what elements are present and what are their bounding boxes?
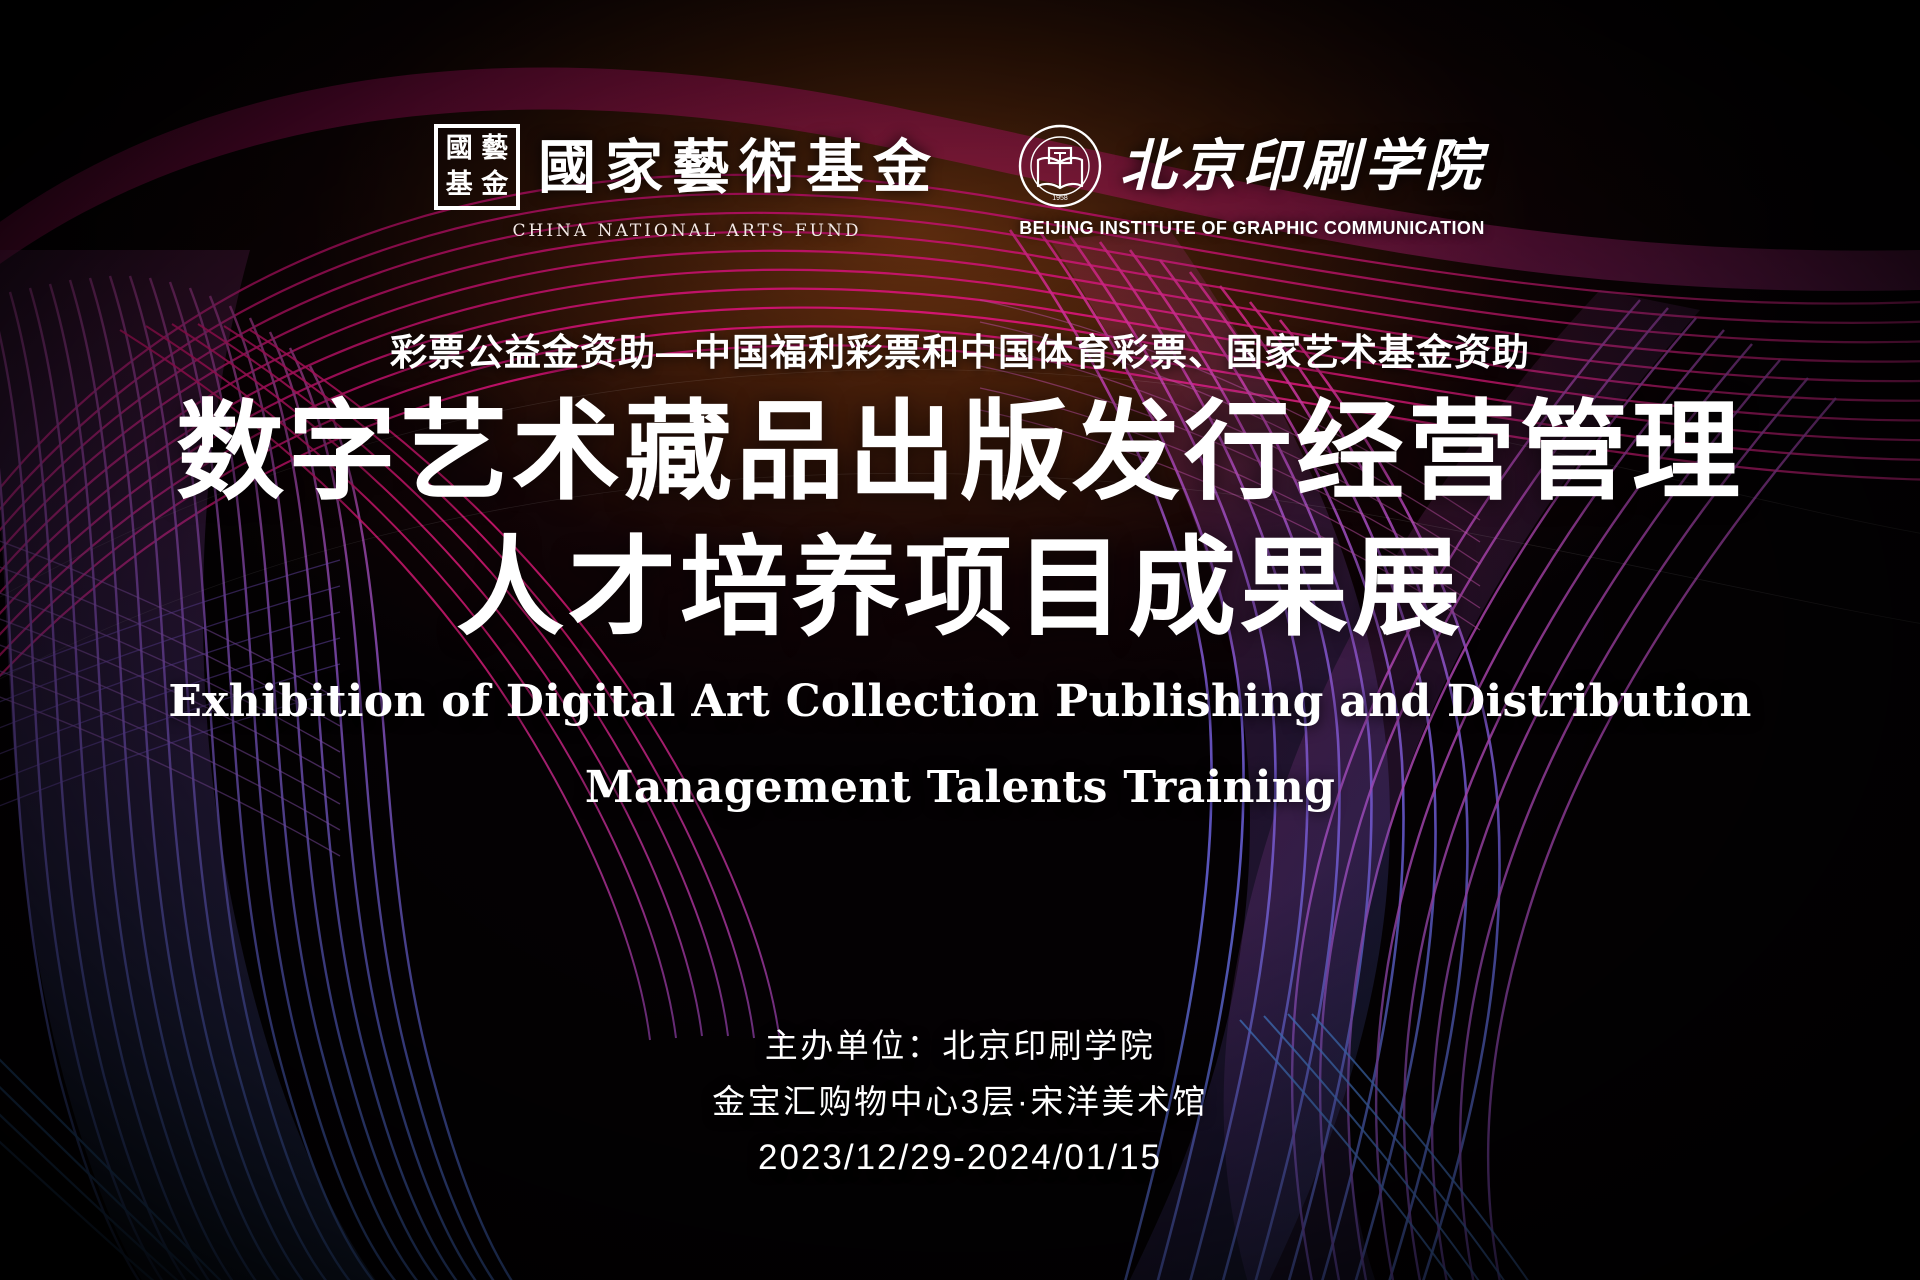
footer-block: 主办单位：北京印刷学院 金宝汇购物中心3层·宋洋美术馆 2023/12/29-2…: [0, 1018, 1920, 1186]
exhibition-poster: 國 藝 基 金 國家藝術基金 CHINA NATIONAL ARTS FUND: [0, 0, 1920, 1280]
logo-china-national-arts-fund: 國 藝 基 金 國家藝術基金 CHINA NATIONAL ARTS FUND: [434, 124, 940, 241]
bigc-cn-name: 北京印刷学院: [1120, 137, 1486, 195]
crest-year: 1958: [1052, 195, 1068, 202]
organizer-text: 主办单位：北京印刷学院: [0, 1018, 1920, 1074]
seal-char-3: 基: [443, 169, 476, 202]
logo-beijing-institute-of-graphic-communication: 1958 北京印刷学院 BEIJING INSTITUTE OF GRAPHIC…: [1018, 124, 1486, 239]
dates-text: 2023/12/29-2024/01/15: [0, 1130, 1920, 1186]
seal-char-1: 國: [443, 133, 476, 166]
seal-char-4: 金: [478, 169, 511, 202]
arts-fund-cn-name: 國家藝術基金: [538, 137, 940, 197]
funding-subtitle: 彩票公益金资助—中国福利彩票和中国体育彩票、国家艺术基金资助: [0, 322, 1920, 376]
seal-char-2: 藝: [478, 133, 511, 166]
bigc-crest-icon: 1958: [1018, 124, 1102, 208]
title-cn-line-2: 人才培养项目成果展: [0, 528, 1920, 648]
logo-row: 國 藝 基 金 國家藝術基金 CHINA NATIONAL ARTS FUND: [0, 124, 1920, 241]
title-cn-line-1: 数字艺术藏品出版发行经营管理: [0, 392, 1920, 512]
venue-text: 金宝汇购物中心3层·宋洋美术馆: [0, 1074, 1920, 1130]
title-en-line-2: Management Talents Training: [0, 756, 1920, 820]
title-en-line-1: Exhibition of Digital Art Collection Pub…: [0, 670, 1920, 734]
title-block: 彩票公益金资助—中国福利彩票和中国体育彩票、国家艺术基金资助 数字艺术藏品出版发…: [0, 322, 1920, 820]
arts-fund-seal-icon: 國 藝 基 金: [434, 124, 520, 210]
bigc-en-name: BEIJING INSTITUTE OF GRAPHIC COMMUNICATI…: [1019, 218, 1484, 239]
arts-fund-en-name: CHINA NATIONAL ARTS FUND: [513, 221, 862, 241]
